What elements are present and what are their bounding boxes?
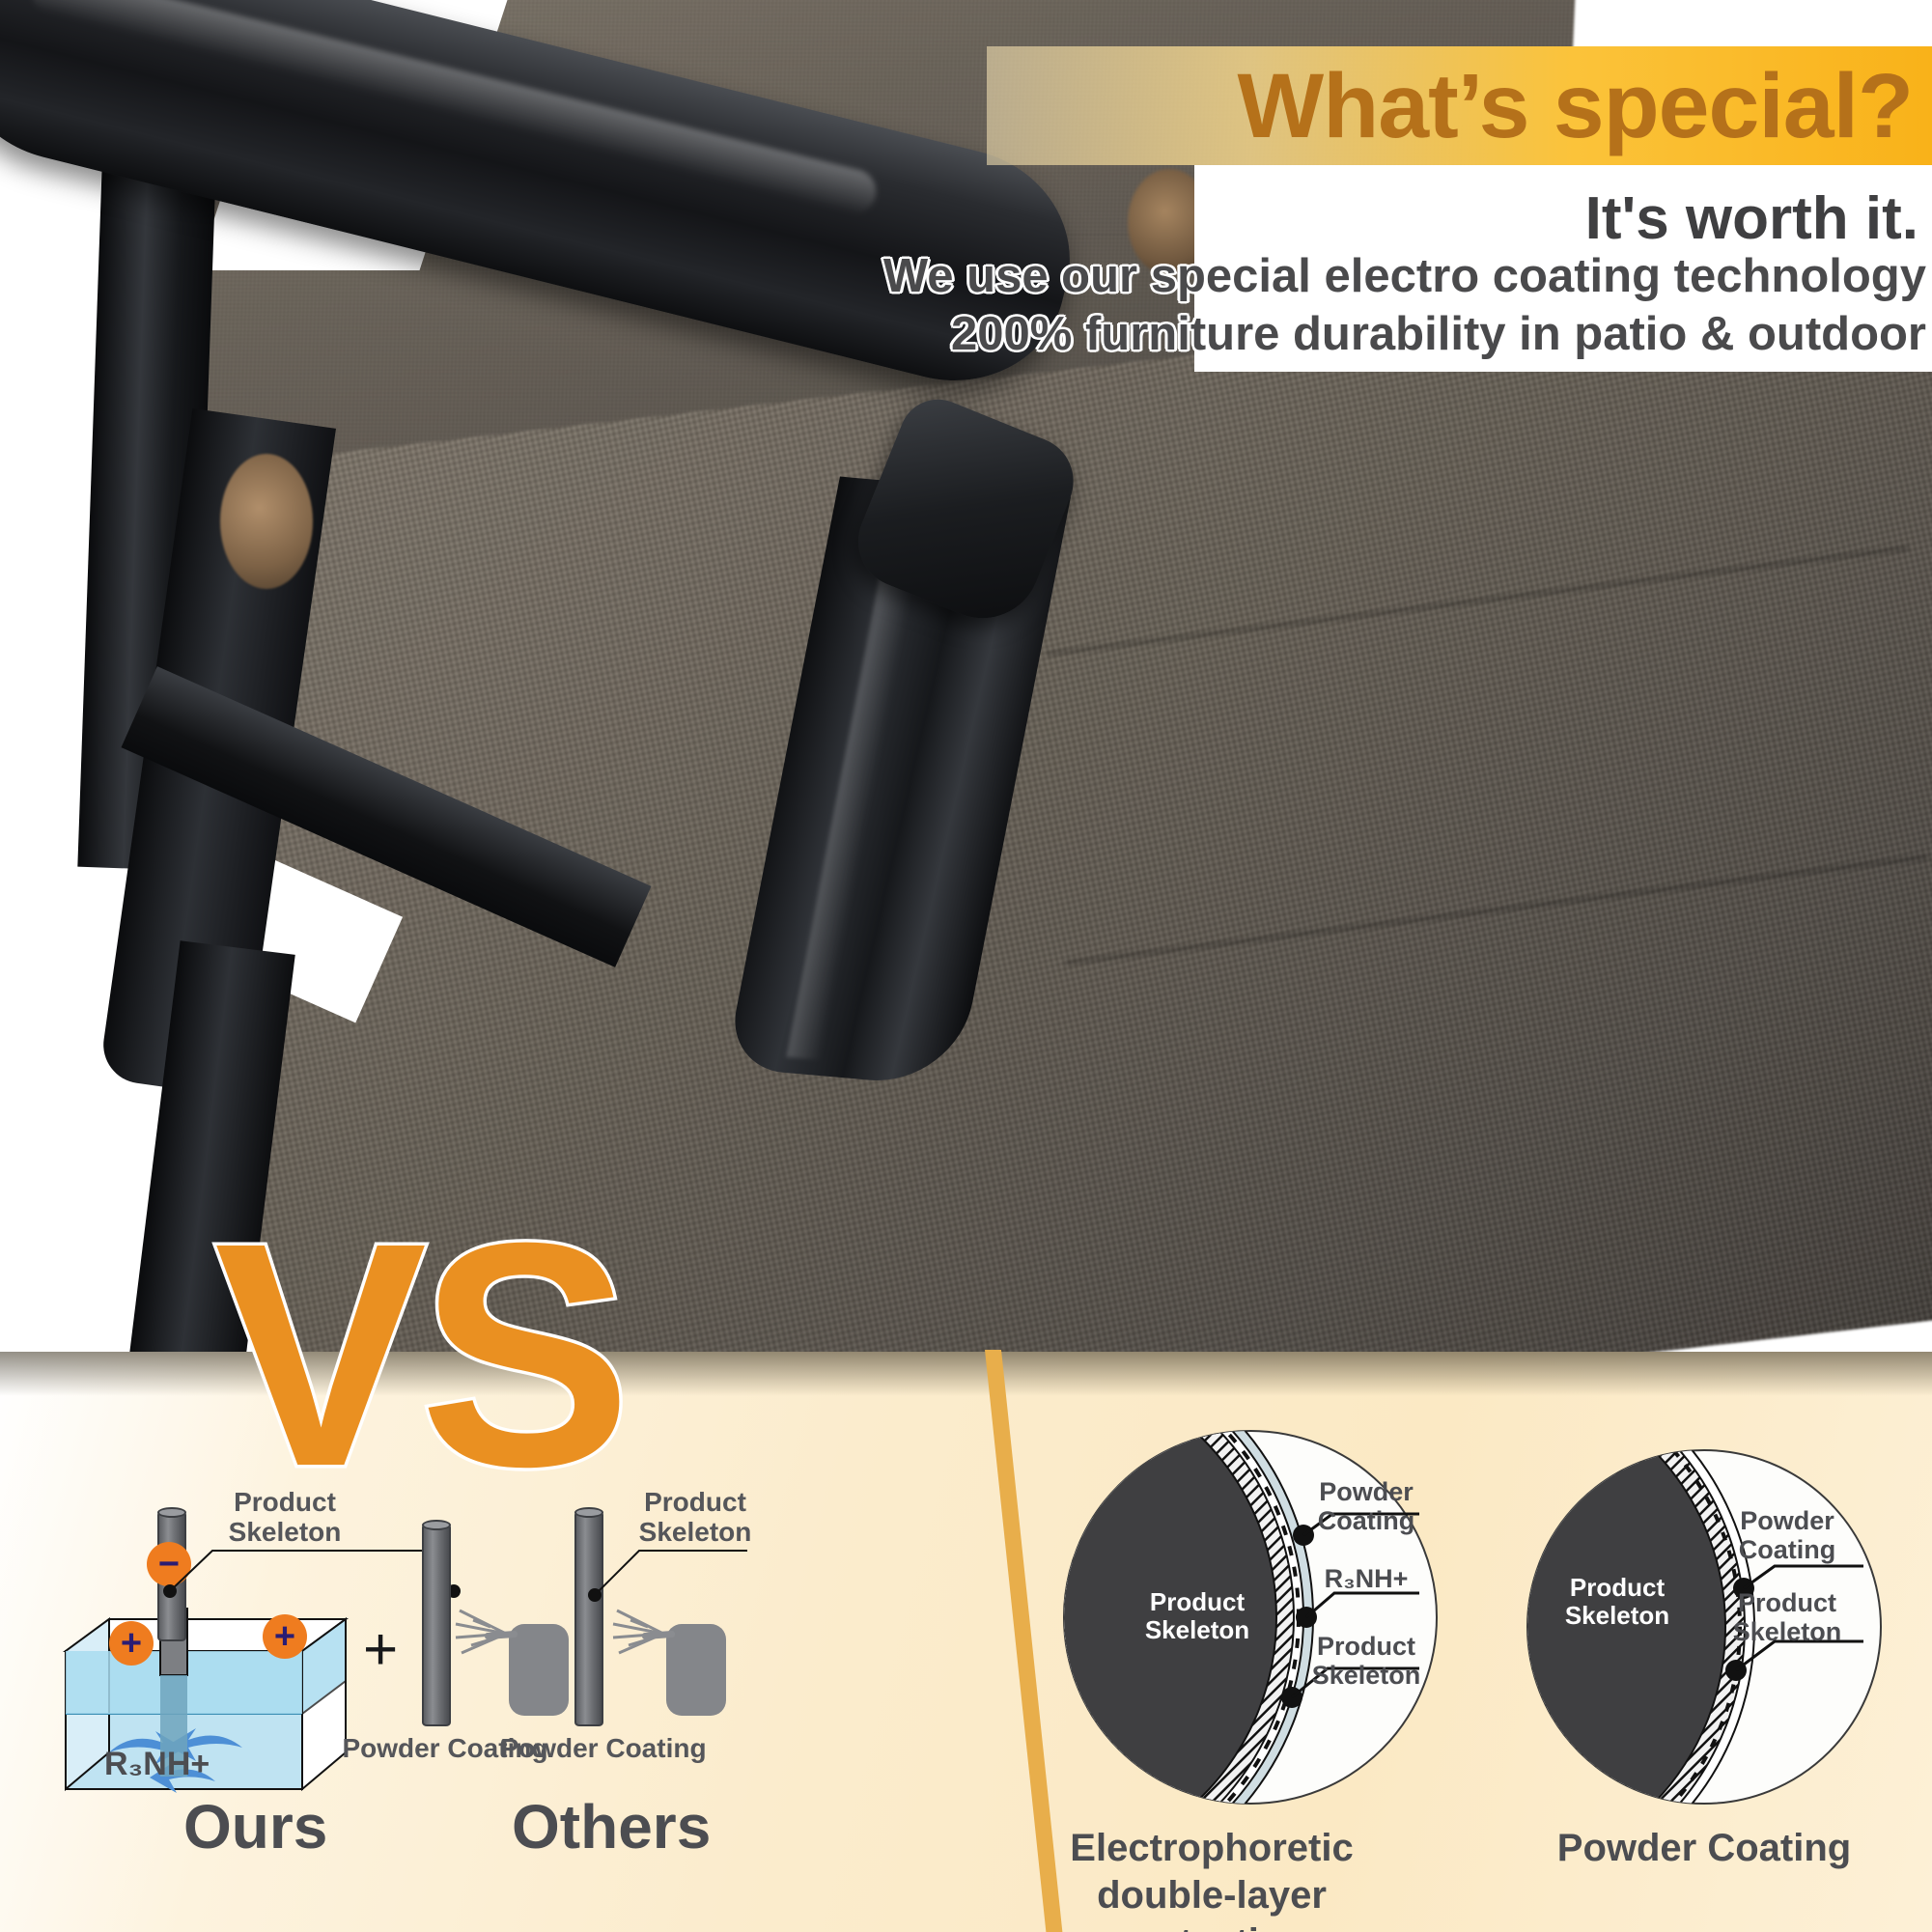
layer-label-product-skeleton-pc: Product Skeleton [1695,1588,1879,1646]
coating-rod-left [422,1524,451,1726]
electrolyte-formula-label: R₃NH+ [104,1746,210,1783]
powder-coating-label-others: Powder Coating [463,1733,743,1763]
cathode-rod-cap [157,1507,186,1518]
ours-title: Ours [183,1791,327,1862]
spray-mist-left [452,1607,510,1661]
caption-electrophoretic: Electrophoretic double-layer protection [1023,1825,1400,1932]
infographic-root: What’s special? It's worth it. We use ou… [0,0,1932,1932]
others-title: Others [512,1791,711,1862]
layer-label-powder-coating-pc: Powder Coating [1695,1506,1879,1564]
spray-gun-left [509,1624,569,1716]
layer-label-product-skeleton-ep: Product Skeleton [1274,1632,1458,1690]
vs-badge: VS [214,1195,624,1514]
body-line-1: We use our special electro coating techn… [883,249,1926,303]
core-label-powder: Product Skeleton [1526,1574,1709,1630]
page-title: What’s special? [1019,48,1932,164]
spray-mist-others [609,1607,667,1661]
chair-bolt [220,454,313,589]
body-line-2: 200% furniture durability in patio & out… [951,307,1926,361]
core-label-electrophoretic: Product Skeleton [1106,1588,1289,1644]
caption-powder-coating: Powder Coating [1516,1825,1892,1872]
layer-label-r3nh-ep: R₃NH+ [1274,1564,1458,1593]
plus-sign-left: + [363,1620,398,1680]
layer-label-powder-coating-ep: Powder Coating [1274,1477,1458,1535]
subheading: It's worth it. [1159,180,1932,257]
spray-gun-others [666,1624,726,1716]
